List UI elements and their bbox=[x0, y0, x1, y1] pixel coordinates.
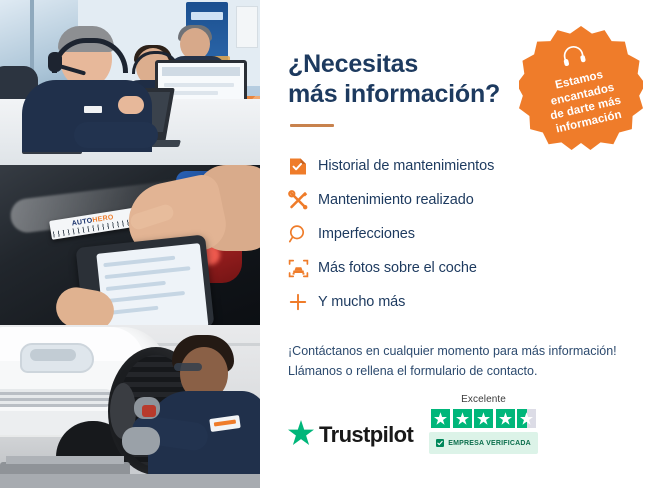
content-panel: ¿Necesitas más información? Historial de… bbox=[260, 0, 650, 488]
trustpilot-rating: Excelente bbox=[429, 394, 538, 454]
list-item: Mantenimiento realizado bbox=[288, 183, 622, 217]
list-item-label: Imperfecciones bbox=[318, 226, 415, 242]
rating-label: Excelente bbox=[461, 394, 506, 405]
list-item-label: Historial de mantenimientos bbox=[318, 158, 494, 174]
photo-call-center bbox=[0, 0, 260, 165]
clipboard-check-icon bbox=[288, 156, 318, 177]
mechanic bbox=[138, 335, 260, 488]
list-item-label: Y mucho más bbox=[318, 294, 405, 310]
star-half bbox=[517, 409, 536, 428]
headlight-inner bbox=[30, 349, 76, 361]
list-item: Historial de mantenimientos bbox=[288, 149, 622, 183]
list-item: Imperfecciones bbox=[288, 217, 622, 251]
headset-icon bbox=[560, 44, 589, 74]
star-rating bbox=[431, 409, 536, 428]
plus-icon bbox=[288, 292, 318, 312]
contact-line-2: Llámanos o rellena el formulario de cont… bbox=[288, 361, 618, 381]
magnifier-icon bbox=[288, 224, 318, 244]
contact-line-1: ¡Contáctanos en cualquier momento para m… bbox=[288, 341, 618, 361]
headline-line-2: más información? bbox=[288, 80, 500, 108]
workshop-floor bbox=[0, 474, 260, 488]
hand-tool bbox=[142, 405, 156, 417]
car-grille bbox=[0, 389, 114, 407]
headset-earcup-icon bbox=[48, 52, 62, 72]
list-item: Y mucho más bbox=[288, 285, 622, 319]
photo-column: AUTOHERO bbox=[0, 0, 260, 488]
star-filled bbox=[496, 409, 515, 428]
list-item: Más fotos sobre el coche bbox=[288, 251, 622, 285]
safety-glasses-icon bbox=[174, 363, 202, 371]
title-divider bbox=[290, 124, 334, 127]
trustpilot-widget[interactable]: Trustpilot Excelente bbox=[288, 394, 634, 454]
trustpilot-star-icon bbox=[288, 420, 314, 450]
car-frame-icon bbox=[288, 258, 318, 279]
headline-line-1: ¿Necesitas bbox=[288, 50, 418, 78]
photo-mechanic-wheel bbox=[0, 325, 260, 488]
trustpilot-logo[interactable]: Trustpilot bbox=[288, 420, 413, 454]
status-badge: Estamos encantados de darte más informac… bbox=[519, 26, 643, 150]
tools-cross-icon bbox=[288, 190, 318, 211]
verified-label: EMPRESA VERIFICADA bbox=[448, 440, 531, 447]
feature-list: Historial de mantenimientos Mantenimient… bbox=[288, 149, 622, 319]
agent-hand bbox=[118, 96, 144, 114]
list-item-label: Más fotos sobre el coche bbox=[318, 260, 477, 276]
contact-info-poster: AUTOHERO bbox=[0, 0, 650, 488]
call-center-agent bbox=[22, 30, 152, 142]
list-item-label: Mantenimiento realizado bbox=[318, 192, 474, 208]
car-lift-pad bbox=[6, 456, 124, 464]
star-filled bbox=[453, 409, 472, 428]
name-badge bbox=[84, 106, 102, 113]
photo-vehicle-inspection: AUTOHERO bbox=[0, 165, 260, 325]
page-title: ¿Necesitas más información? bbox=[288, 50, 528, 109]
wall-paper bbox=[236, 6, 258, 48]
trustpilot-wordmark: Trustpilot bbox=[319, 422, 413, 448]
star-filled bbox=[431, 409, 450, 428]
verified-badge: EMPRESA VERIFICADA bbox=[429, 432, 538, 454]
verified-check-icon bbox=[436, 434, 444, 452]
contact-text: ¡Contáctanos en cualquier momento para m… bbox=[288, 341, 618, 382]
work-glove bbox=[122, 427, 160, 455]
star-filled bbox=[474, 409, 493, 428]
